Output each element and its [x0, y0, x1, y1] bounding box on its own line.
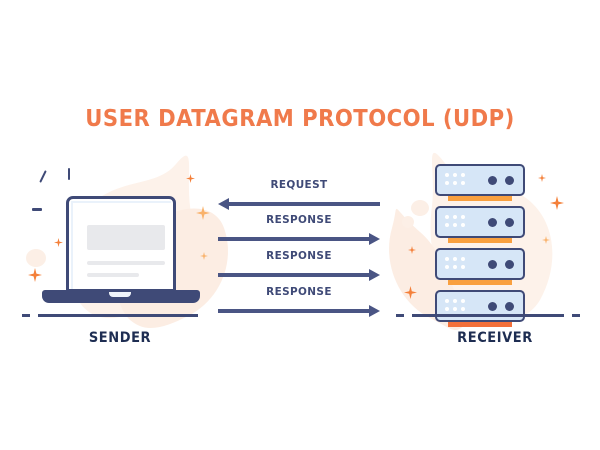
- sparkle-icon: [404, 286, 417, 299]
- decorative-tick: [68, 168, 70, 180]
- arrow-right-icon: [218, 233, 380, 245]
- sparkle-icon: [408, 246, 416, 254]
- server-led-icon: [505, 260, 514, 269]
- ground-line-sender: [38, 314, 198, 317]
- receiver-label: RECEIVER: [407, 330, 584, 346]
- message-label: RESPONSE: [222, 285, 376, 298]
- sparkle-icon: [196, 206, 210, 220]
- server-led-icon: [505, 218, 514, 227]
- server-led-icon: [505, 302, 514, 311]
- arrow-shaft: [218, 309, 370, 313]
- decorative-tick: [39, 170, 46, 183]
- screen-content-block: [87, 225, 165, 250]
- server-led-icon: [488, 218, 497, 227]
- arrow-head: [369, 269, 380, 281]
- screen-content-line-1: [87, 261, 165, 265]
- sender-illustration: [20, 160, 220, 350]
- ground-dash-right-start: [396, 314, 404, 317]
- arrow-shaft: [218, 237, 370, 241]
- arrow-left-icon: [218, 198, 380, 210]
- arrow-shaft: [228, 202, 380, 206]
- ground-dash-right-end: [572, 314, 580, 317]
- laptop-trackpad-notch: [109, 292, 131, 297]
- server-led-icon: [488, 260, 497, 269]
- receiver-illustration: [400, 160, 590, 350]
- arrow-head: [218, 198, 229, 210]
- server-indicator-dots: [445, 257, 465, 269]
- server-led-icon: [488, 302, 497, 311]
- server-indicator-dots: [445, 299, 465, 311]
- arrow-shaft: [218, 273, 370, 277]
- server-led-icon: [488, 176, 497, 185]
- message-row: RESPONSE: [218, 249, 380, 281]
- udp-diagram: USER DATAGRAM PROTOCOL (UDP): [0, 0, 600, 450]
- sparkle-icon: [200, 252, 208, 260]
- arrow-head: [369, 233, 380, 245]
- sparkle-icon: [54, 238, 63, 247]
- screen-content-line-2: [87, 273, 139, 277]
- arrow-head: [369, 305, 380, 317]
- server-unit: [435, 164, 525, 196]
- sparkle-icon: [550, 196, 564, 210]
- laptop-screen-surface: [71, 201, 171, 289]
- server-unit: [435, 290, 525, 322]
- message-row: RESPONSE: [218, 213, 380, 245]
- message-row: RESPONSE: [218, 285, 380, 317]
- message-label: RESPONSE: [222, 213, 376, 226]
- message-label: RESPONSE: [222, 249, 376, 262]
- ground-dash-left: [22, 314, 30, 317]
- arrow-right-icon: [218, 269, 380, 281]
- server-indicator-dots: [445, 173, 465, 185]
- sparkle-icon: [28, 268, 42, 282]
- sparkle-icon: [186, 174, 195, 183]
- sparkle-icon: [542, 236, 550, 244]
- message-label: REQUEST: [222, 178, 376, 191]
- server-unit: [435, 206, 525, 238]
- sender-label: SENDER: [27, 330, 213, 346]
- decorative-tick: [32, 208, 42, 211]
- server-led-icon: [505, 176, 514, 185]
- sparkle-icon: [538, 174, 546, 182]
- arrow-right-icon: [218, 305, 380, 317]
- server-indicator-dots: [445, 215, 465, 227]
- message-row: REQUEST: [218, 178, 380, 210]
- diagram-title: USER DATAGRAM PROTOCOL (UDP): [24, 106, 576, 132]
- ground-line-receiver: [412, 314, 564, 317]
- laptop-screen: [66, 196, 176, 292]
- server-unit: [435, 248, 525, 280]
